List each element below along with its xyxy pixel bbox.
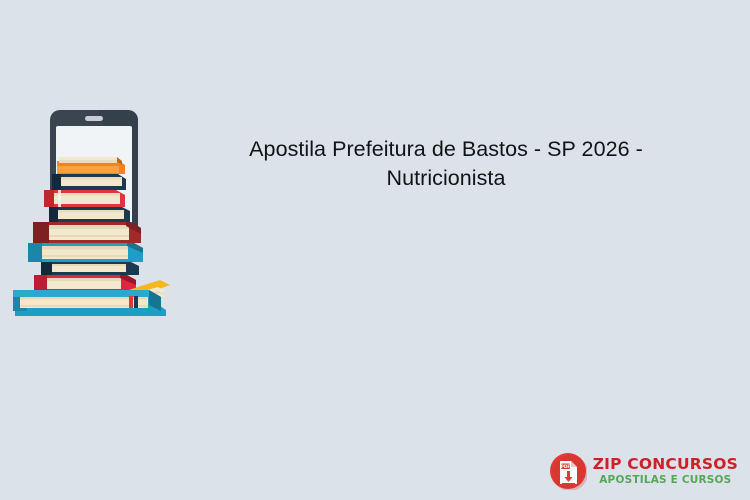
- page-title: Apostila Prefeitura de Bastos - SP 2026 …: [196, 135, 696, 193]
- book-teal-1: [28, 243, 143, 262]
- brand-text-block: ZIP CONCURSOS APOSTILAS E CURSOS: [593, 457, 738, 486]
- stack-of-books-with-tablet-illustration: [8, 104, 186, 316]
- brand-tagline: APOSTILAS E CURSOS: [599, 475, 731, 486]
- book-navy-3: [41, 262, 139, 275]
- svg-text:PDF: PDF: [561, 464, 571, 469]
- product-banner: Apostila Prefeitura de Bastos - SP 2026 …: [0, 0, 750, 500]
- brand-logo[interactable]: PDF ZIP CONCURSOS APOSTILAS E CURSOS: [549, 452, 738, 490]
- pdf-download-icon: PDF: [549, 452, 587, 490]
- book-bottom-cover: [15, 304, 166, 316]
- brand-name: ZIP CONCURSOS: [593, 457, 738, 473]
- product-title-block: Apostila Prefeitura de Bastos - SP 2026 …: [196, 135, 696, 193]
- book-navy-2: [49, 207, 130, 222]
- book-red-1: [44, 190, 125, 207]
- book-top-orange: [57, 157, 125, 174]
- book-darkred-1: [33, 222, 141, 243]
- book-red-2: [34, 275, 136, 292]
- book-navy-1: [52, 174, 126, 190]
